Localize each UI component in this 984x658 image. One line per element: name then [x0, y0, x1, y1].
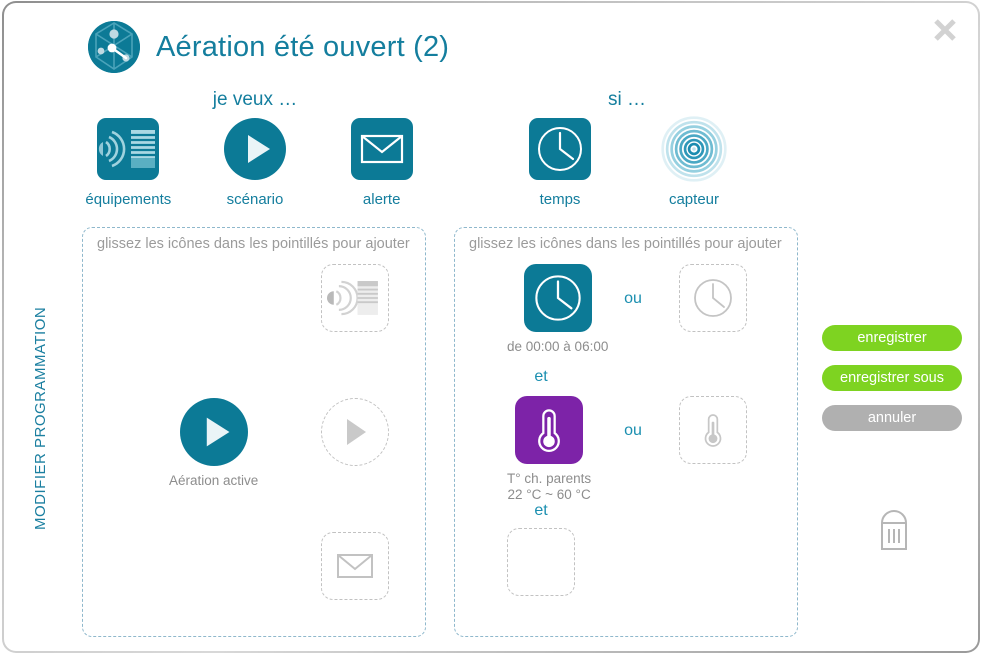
programmation-dialog: MODIFIER PROGRAMMATION: [0, 0, 984, 658]
equipment-icon: [321, 264, 389, 332]
action-buttons: enregistrer enregistrer sous annuler: [822, 325, 962, 431]
save-button[interactable]: enregistrer: [822, 325, 962, 351]
palette-label: équipements: [85, 191, 171, 208]
palette-label: alerte: [363, 191, 401, 208]
page-title: Aération été ouvert (2): [156, 31, 449, 64]
slot-equipment-empty[interactable]: [321, 264, 389, 339]
thermometer-icon: [679, 396, 747, 464]
slot-caption: de 00:00 à 06:00: [507, 339, 608, 355]
panel-hint: glissez les icônes dans les pointillés p…: [97, 236, 410, 252]
slot-time-filled[interactable]: de 00:00 à 06:00: [507, 264, 608, 355]
play-icon: [221, 115, 289, 183]
palette-item-temps[interactable]: temps: [514, 115, 606, 208]
and-connector-1: et: [507, 368, 575, 386]
left-drop-panel[interactable]: glissez les icônes dans les pointillés p…: [82, 227, 426, 637]
left-palette: équipements scénario: [84, 115, 426, 208]
palette-item-equipements[interactable]: équipements: [84, 115, 173, 208]
thermometer-icon: [515, 396, 583, 464]
slot-scenario-filled[interactable]: Aération active: [169, 398, 258, 489]
palette-item-alerte[interactable]: alerte: [337, 115, 426, 208]
slot-time-empty[interactable]: [679, 264, 747, 332]
palette-label: scénario: [227, 191, 284, 208]
right-column-heading: si …: [456, 89, 798, 111]
trash-icon[interactable]: [873, 501, 915, 553]
slot-temperature-filled[interactable]: T° ch. parents 22 °C ~ 60 °C: [507, 396, 591, 503]
clock-icon: [526, 115, 594, 183]
slot-blank-empty[interactable]: [507, 528, 575, 596]
slot-temperature-empty[interactable]: [679, 396, 747, 464]
and-connector-2: et: [507, 502, 575, 520]
palette-label: capteur: [669, 191, 719, 208]
slot-scenario-empty[interactable]: [321, 398, 389, 473]
right-drop-panel[interactable]: glissez les icônes dans les pointillés p…: [454, 227, 798, 637]
palette-label: temps: [540, 191, 581, 208]
window-body: MODIFIER PROGRAMMATION: [4, 3, 978, 651]
palette-item-capteur[interactable]: capteur: [648, 115, 740, 208]
palette-item-scenario[interactable]: scénario: [211, 115, 300, 208]
slot-caption-line2: 22 °C ~ 60 °C: [507, 487, 590, 503]
slot-alert-empty[interactable]: [321, 532, 389, 607]
save-as-button[interactable]: enregistrer sous: [822, 365, 962, 391]
envelope-icon: [348, 115, 416, 183]
dialog-header: Aération été ouvert (2): [88, 21, 449, 73]
sensor-waves-icon: [660, 115, 728, 183]
right-palette: temps: [456, 115, 798, 208]
clock-icon: [679, 264, 747, 332]
scenario-node-icon: [88, 21, 140, 73]
panel-hint: glissez les icônes dans les pointillés p…: [469, 236, 782, 252]
slot-caption: Aération active: [169, 473, 258, 489]
blank-slot: [507, 528, 575, 596]
or-connector-2: ou: [613, 422, 653, 440]
cancel-button[interactable]: annuler: [822, 405, 962, 431]
side-label: MODIFIER PROGRAMMATION: [26, 198, 56, 638]
equipment-icon: [94, 115, 162, 183]
slot-caption-line1: T° ch. parents: [507, 471, 591, 487]
left-column-heading: je veux …: [84, 89, 426, 111]
clock-icon: [524, 264, 592, 332]
envelope-icon: [321, 532, 389, 600]
play-icon: [180, 398, 248, 466]
close-icon[interactable]: [928, 13, 962, 47]
or-connector-1: ou: [613, 290, 653, 308]
play-icon: [321, 398, 389, 466]
